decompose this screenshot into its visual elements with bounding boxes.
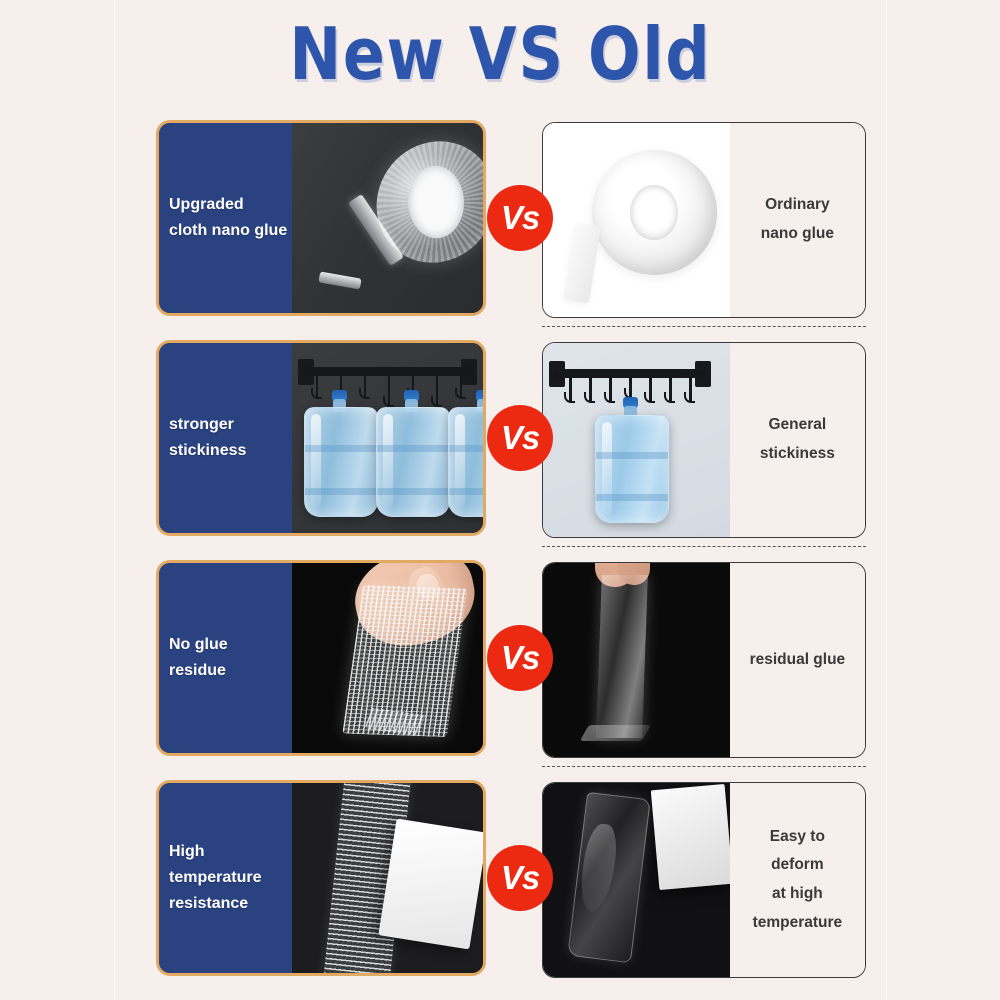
old-label-line: at high: [753, 880, 843, 909]
old-product-card[interactable]: General stickiness: [542, 342, 866, 538]
new-label-line: No glue: [169, 632, 228, 658]
page-title-container: New VS Old: [0, 6, 1000, 102]
old-label-line: temperature: [753, 909, 843, 938]
rail-hook-icon: [364, 376, 367, 398]
rail-hook-icon: [669, 378, 672, 402]
old-label-line: Easy to: [753, 823, 843, 852]
rail-hook-icon: [436, 376, 439, 406]
rail-hook-icon: [609, 378, 612, 402]
vs-badge-label: Vs: [501, 641, 539, 674]
three-jugs-image: [292, 343, 483, 533]
old-product-photo: [543, 563, 730, 757]
deformed-tape-image: [543, 783, 730, 977]
rail-hook-icon: [569, 378, 572, 402]
water-jug-icon: [595, 415, 669, 523]
comparison-row: No glue residue Vs: [0, 548, 1000, 768]
white-card-icon: [651, 784, 730, 890]
new-label-line: residue: [169, 658, 228, 684]
ordinary-tape-roll-image: [543, 123, 730, 317]
stretched-tape-image: [543, 563, 730, 757]
old-label-line: nano glue: [761, 220, 834, 249]
ordinary-roll-icon: [592, 150, 717, 275]
old-product-photo: [543, 343, 730, 537]
comparison-row: Upgraded cloth nano glue Vs: [0, 108, 1000, 328]
new-label-line: stronger: [169, 412, 246, 438]
new-product-card[interactable]: High temperature resistance: [156, 780, 486, 976]
water-jug-icon: [448, 407, 483, 517]
old-product-card[interactable]: Easy to deform at high temperature: [542, 782, 866, 978]
jug-ring: [305, 488, 377, 495]
ordinary-tape-tail-icon: [563, 222, 601, 303]
old-product-card[interactable]: residual glue: [542, 562, 866, 758]
jug-ring: [377, 488, 449, 495]
comparison-rows: Upgraded cloth nano glue Vs: [0, 108, 1000, 988]
old-label-line: residual glue: [750, 646, 846, 675]
new-product-card[interactable]: stronger stickiness: [156, 340, 486, 536]
stretched-tape-icon: [596, 575, 648, 738]
row-divider: [542, 326, 866, 327]
vs-badge: Vs: [487, 405, 553, 471]
jug-ring: [596, 494, 668, 501]
mesh-strip-image: [292, 783, 483, 973]
old-label-panel: General stickiness: [730, 343, 865, 537]
old-label-text: Ordinary nano glue: [761, 191, 834, 248]
white-card-icon: [379, 818, 483, 949]
new-product-photo: [292, 563, 483, 753]
new-product-photo: [292, 123, 483, 313]
new-label-text: stronger stickiness: [159, 412, 246, 464]
vs-badge: Vs: [487, 625, 553, 691]
vs-badge-label: Vs: [501, 421, 539, 454]
old-label-panel: Ordinary nano glue: [730, 123, 865, 317]
rail-hook-icon: [316, 376, 319, 398]
comparison-row: stronger stickiness: [0, 328, 1000, 548]
new-label-panel: High temperature resistance: [159, 783, 292, 973]
old-label-text: residual glue: [750, 646, 846, 675]
new-label-text: High temperature resistance: [159, 839, 261, 917]
deformed-tape-icon: [567, 791, 651, 963]
new-product-photo: [292, 783, 483, 973]
jug-ring: [449, 445, 483, 452]
rail-hook-icon: [649, 378, 652, 402]
old-label-text: General stickiness: [760, 411, 835, 468]
new-label-line: resistance: [169, 891, 261, 917]
old-label-line: General: [760, 411, 835, 440]
page-title: New VS Old: [289, 18, 711, 90]
product-comparison-infographic: New VS Old Upgraded cloth nano glue: [0, 0, 1000, 1000]
jug-ring: [377, 445, 449, 452]
water-jug-icon: [304, 407, 378, 517]
row-divider: [542, 546, 866, 547]
jug-ring: [305, 445, 377, 452]
vs-badge-label: Vs: [501, 861, 539, 894]
old-label-panel: Easy to deform at high temperature: [730, 783, 865, 977]
old-label-line: stickiness: [760, 440, 835, 469]
vs-badge: Vs: [487, 185, 553, 251]
new-product-card[interactable]: No glue residue: [156, 560, 486, 756]
new-label-panel: Upgraded cloth nano glue: [159, 123, 292, 313]
wall-rail-icon: [302, 367, 473, 376]
new-label-line: temperature: [169, 865, 261, 891]
rail-hook-icon: [460, 376, 463, 398]
new-label-line: Upgraded: [169, 192, 287, 218]
wall-rail-icon: [553, 369, 705, 378]
rail-hook-icon: [629, 378, 632, 398]
new-label-line: cloth nano glue: [169, 218, 287, 244]
tape-roll-image: [292, 123, 483, 313]
old-label-text: Easy to deform at high temperature: [753, 823, 843, 938]
old-product-photo: [543, 783, 730, 977]
new-label-text: No glue residue: [159, 632, 228, 684]
jug-ring: [596, 452, 668, 459]
tape-tail-end-icon: [318, 271, 361, 289]
old-label-line: Ordinary: [761, 191, 834, 220]
row-divider: [542, 766, 866, 767]
vs-badge: Vs: [487, 845, 553, 911]
new-product-card[interactable]: Upgraded cloth nano glue: [156, 120, 486, 316]
rail-hook-icon: [589, 378, 592, 402]
rail-hook-icon: [689, 378, 692, 402]
old-label-panel: residual glue: [730, 563, 865, 757]
new-product-photo: [292, 343, 483, 533]
new-label-line: High: [169, 839, 261, 865]
new-label-panel: No glue residue: [159, 563, 292, 753]
new-label-panel: stronger stickiness: [159, 343, 292, 533]
vs-badge-label: Vs: [501, 201, 539, 234]
hand-mesh-tape-image: [292, 563, 483, 753]
old-label-line: deform: [753, 851, 843, 880]
old-product-photo: [543, 123, 730, 317]
old-product-card[interactable]: Ordinary nano glue: [542, 122, 866, 318]
comparison-row: High temperature resistance Vs: [0, 768, 1000, 988]
water-jug-icon: [376, 407, 450, 517]
new-label-line: stickiness: [169, 438, 246, 464]
single-jug-image: [543, 343, 730, 537]
rail-hook-icon: [388, 376, 391, 406]
jug-ring: [449, 488, 483, 495]
new-label-text: Upgraded cloth nano glue: [159, 192, 287, 244]
